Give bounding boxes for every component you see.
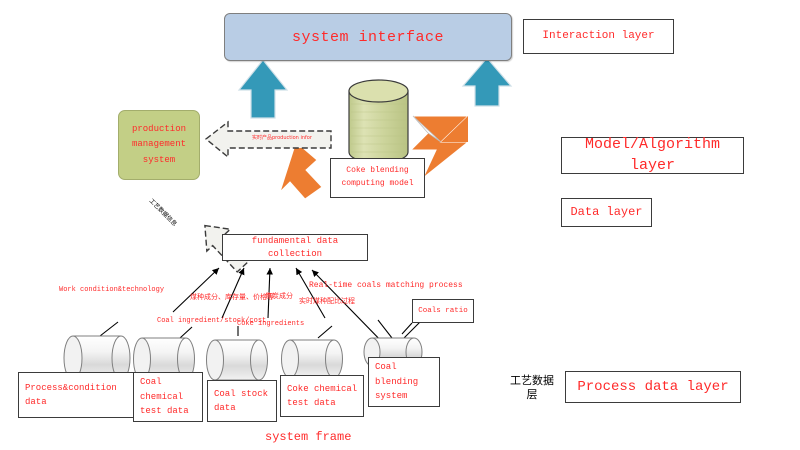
process-data-layer-label-cn: 工艺数据层: [508, 372, 556, 404]
annotation-coke-ingredients: Coke ingredients: [237, 320, 304, 328]
data-source-coal-stock[interactable]: Coal stock data: [207, 380, 277, 422]
process-data-layer-label: Process data layer: [565, 371, 741, 403]
production-management-system-node[interactable]: production management system: [118, 110, 200, 180]
data-layer-label: Data layer: [561, 198, 652, 227]
dashed-arrow-production-info-label: 实时产品production infor: [252, 134, 312, 141]
diagram-caption: system frame: [265, 430, 351, 444]
data-source-process-condition[interactable]: Process&condition data: [18, 372, 140, 418]
annotation-realtime-process-cn: 实时煤种配比过程: [299, 296, 355, 306]
coke-blending-computing-model-node[interactable]: Coke blending computing model: [330, 158, 425, 198]
annotation-coal-ingredient-cn: 煤种成分、库存量、价格等: [190, 292, 274, 302]
system-interface-banner[interactable]: system interface: [224, 13, 512, 61]
connector-lines: [173, 268, 388, 348]
orange-arrow-upleft: [280, 142, 322, 199]
coals-ratio-pointer: [402, 323, 412, 334]
annotation-realtime-coals-matching: Real-time coals matching process: [309, 281, 463, 290]
teal-arrow-left: [239, 60, 287, 118]
interaction-layer-label: Interaction layer: [523, 19, 674, 54]
annotation-coke-ingredients-cn: 焦炭成分: [265, 291, 293, 301]
data-source-coal-blending[interactable]: Coal blending system: [368, 357, 440, 407]
database-cylinder-icon: [347, 78, 410, 165]
data-source-coal-chemical[interactable]: Coal chemical test data: [133, 372, 203, 422]
dashed-arrow-process-info-label: 工艺数据信息: [148, 196, 180, 228]
annotation-work-condition: Work condition&technology: [59, 286, 164, 294]
model-algorithm-layer-label: Model/Algorithm layer: [561, 137, 744, 174]
cylinder-coke-chemical: [282, 340, 343, 378]
data-source-coke-chemical[interactable]: Coke chemical test data: [280, 375, 364, 417]
diagram-canvas: system interface Interaction layer Model…: [0, 0, 800, 450]
coals-ratio-node[interactable]: Coals ratio: [412, 299, 474, 323]
fundamental-data-collection-node[interactable]: fundamental data collection: [222, 234, 368, 261]
cylinder-coal-stock: [207, 340, 268, 380]
teal-arrow-right: [463, 58, 511, 106]
